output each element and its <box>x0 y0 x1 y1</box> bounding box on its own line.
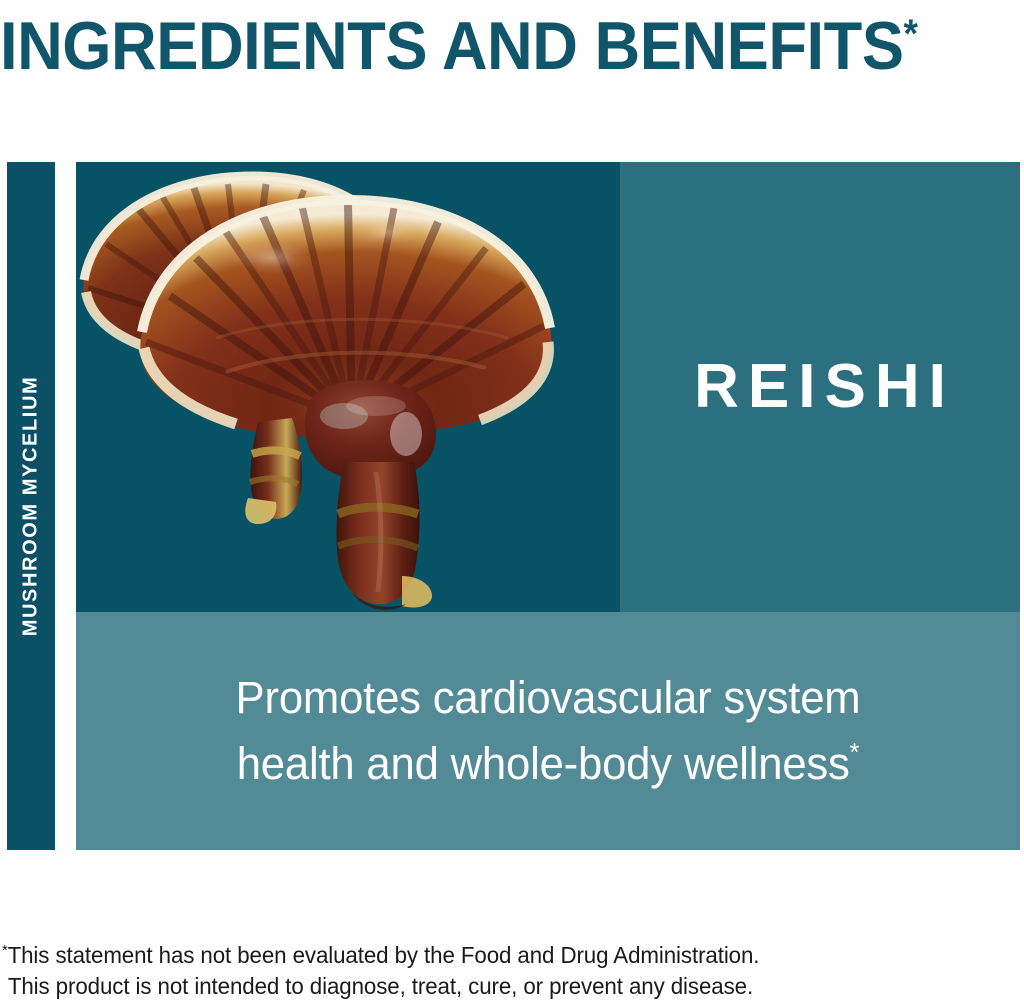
disclaimer-line-2: This product is not intended to diagnose… <box>2 971 982 1002</box>
ingredient-name: REISHI <box>620 162 1020 612</box>
mushroom-stem-back <box>245 418 302 524</box>
ingredient-card-top-row: REISHI <box>76 162 1020 612</box>
disclaimer-line-1: This statement has not been evaluated by… <box>8 942 760 968</box>
benefit-line-1: Promotes cardiovascular system <box>236 672 861 723</box>
category-bar: MUSHROOM MYCELIUM <box>7 162 55 850</box>
ingredient-name-panel: REISHI <box>620 162 1020 612</box>
ingredient-photo-panel <box>76 162 620 612</box>
disclaimer: *This statement has not been evaluated b… <box>2 935 982 1002</box>
ingredient-card: REISHI Promotes cardiovascular system he… <box>76 162 1020 850</box>
ingredient-benefit-panel: Promotes cardiovascular system health an… <box>76 612 1020 850</box>
reishi-mushroom-photo <box>76 162 620 612</box>
benefit-line-2: health and whole-body wellness <box>237 738 850 789</box>
page-title: INGREDIENTS AND BENEFITS* <box>0 0 952 72</box>
page-title-text: INGREDIENTS AND BENEFITS <box>0 8 904 84</box>
page-title-asterisk: * <box>904 12 918 56</box>
benefit-asterisk: * <box>850 737 860 767</box>
category-bar-label: MUSHROOM MYCELIUM <box>20 376 43 637</box>
ingredient-benefit-text: Promotes cardiovascular system health an… <box>121 671 975 791</box>
mushroom-stem-main <box>336 462 432 610</box>
